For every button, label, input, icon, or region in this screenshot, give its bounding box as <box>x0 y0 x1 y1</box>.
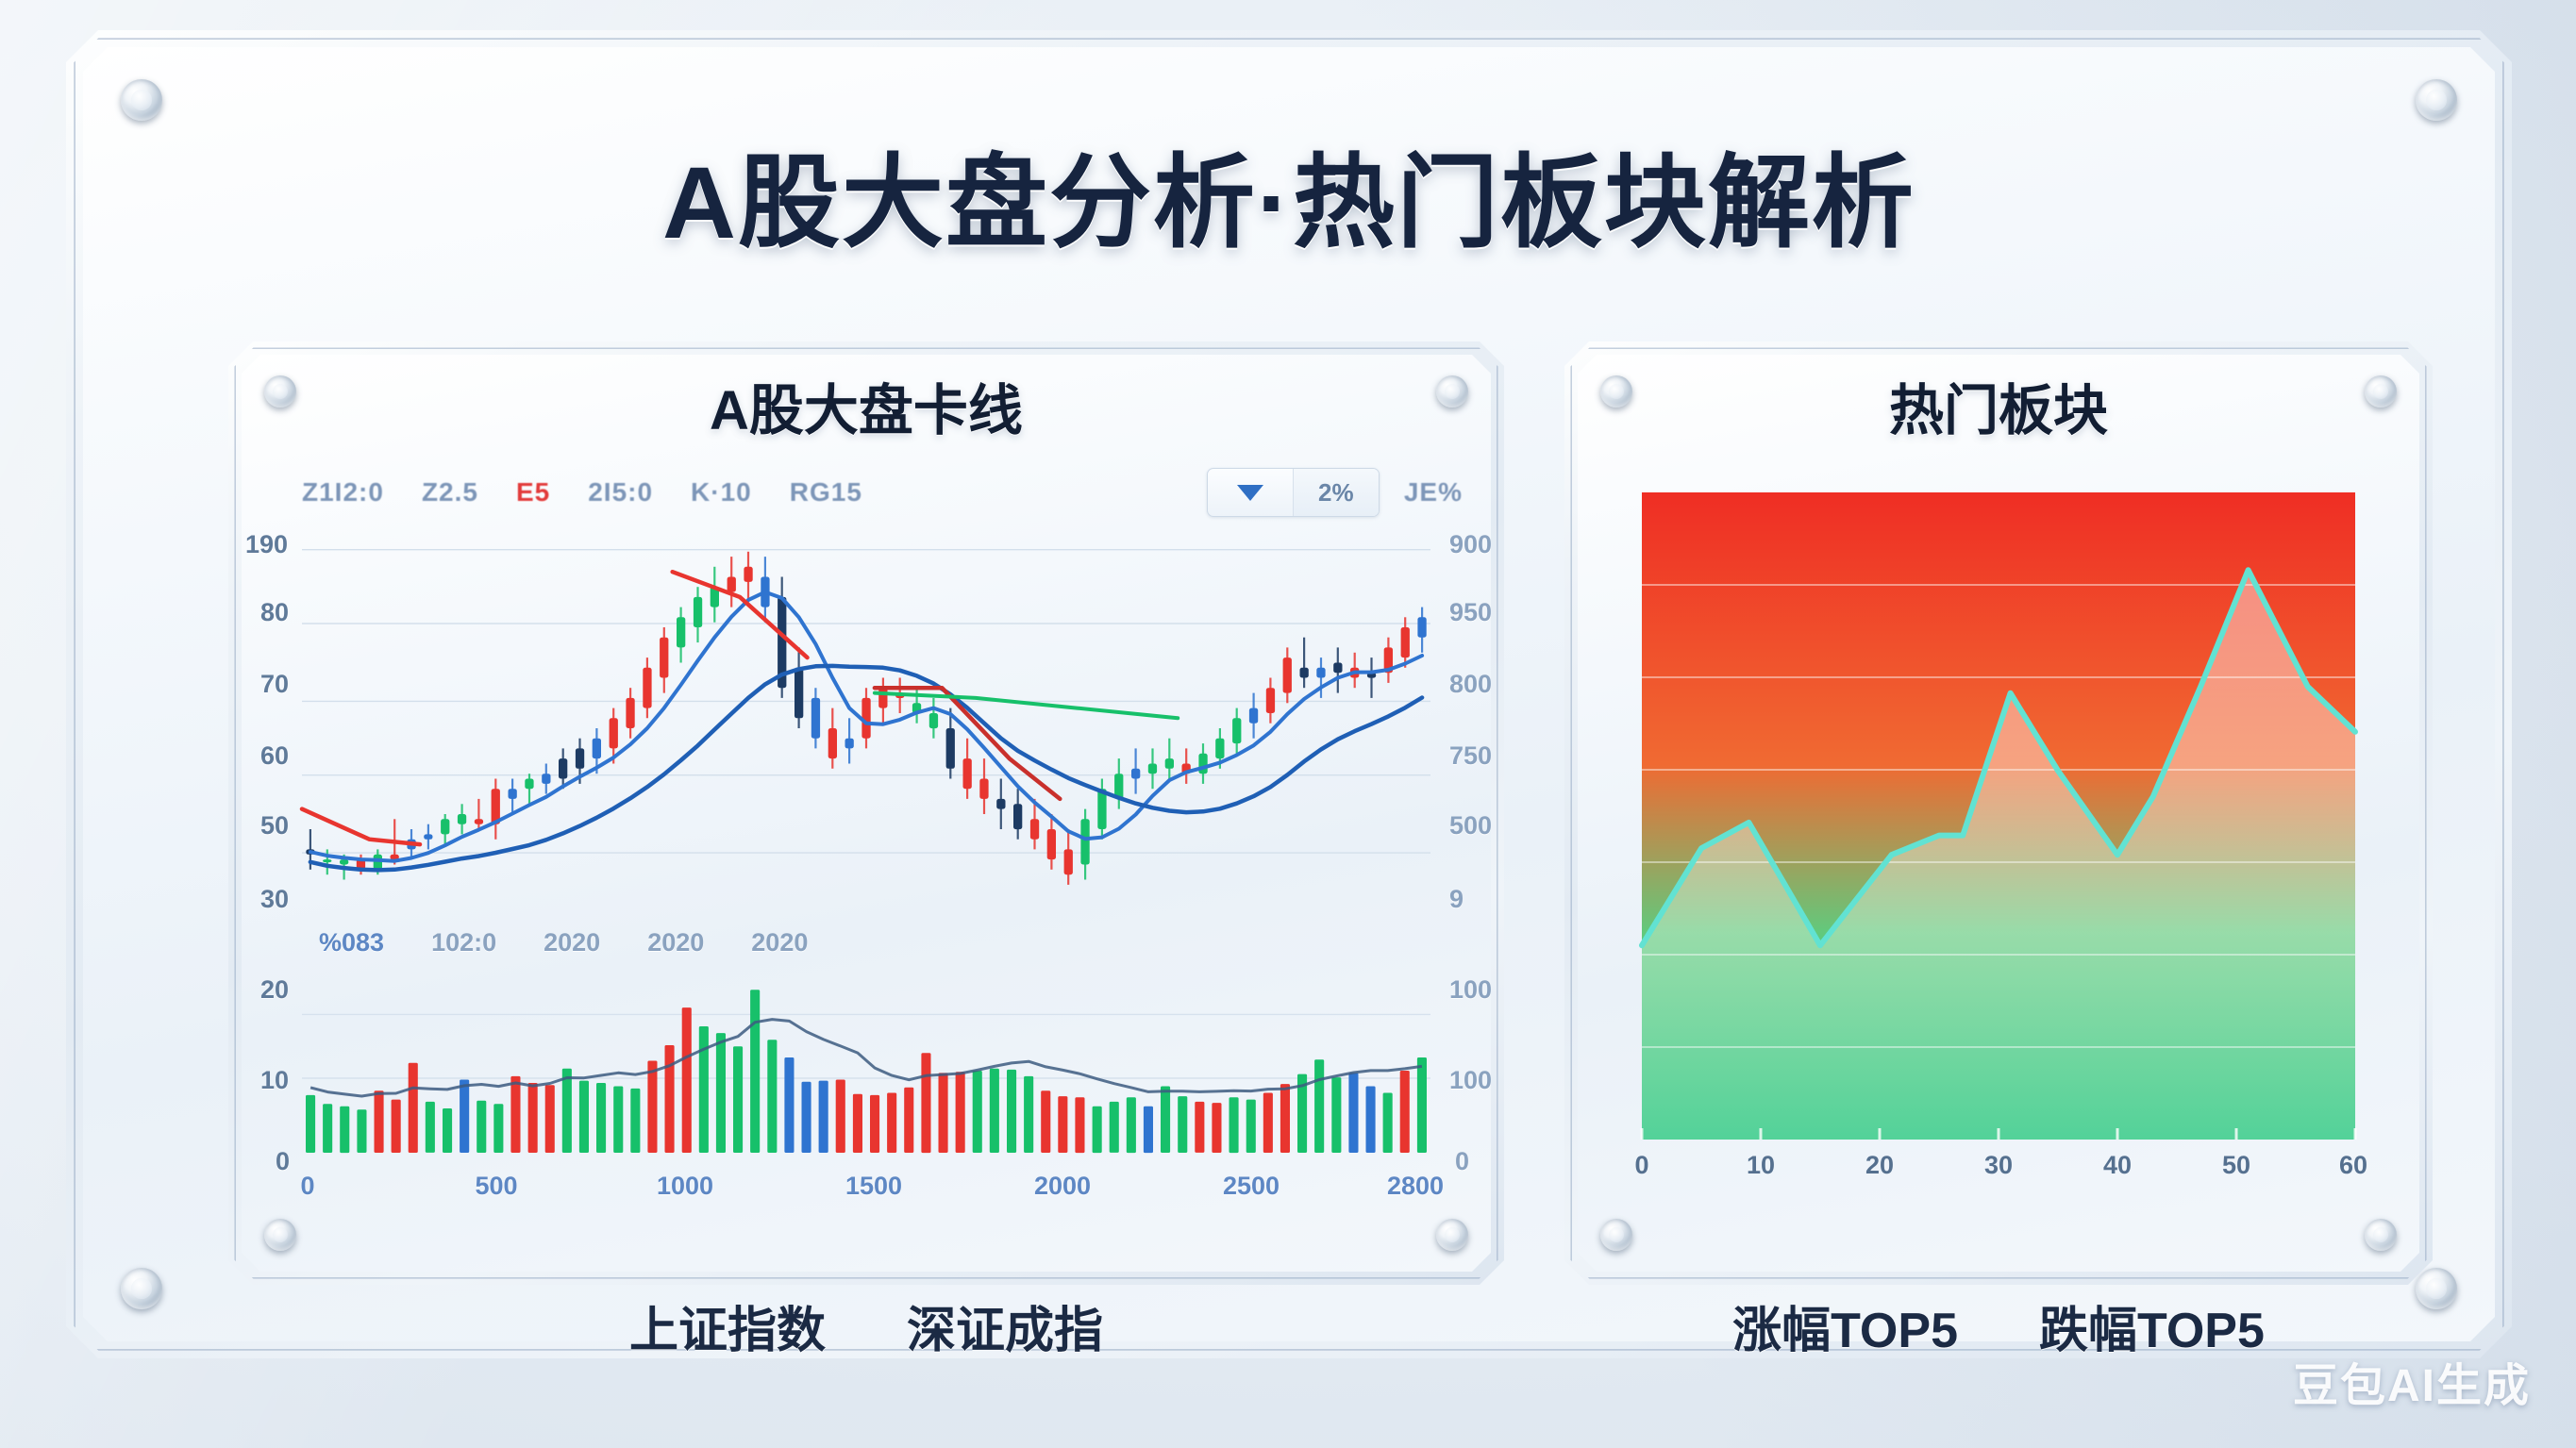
kline-y2-label-7: 100 <box>1449 1066 1492 1095</box>
kline-y-label-5: 30 <box>260 885 289 914</box>
screw-bottom-left <box>121 1268 162 1309</box>
kline-y-label-3: 60 <box>260 741 289 771</box>
kline-y2-label-6: 100 <box>1449 975 1492 1005</box>
kline-y-label-7: 10 <box>260 1066 289 1095</box>
screw-top-right <box>2416 79 2457 121</box>
kline-y-label-0: 190 <box>245 530 288 559</box>
kline-x-label-3: 1500 <box>845 1172 902 1201</box>
kline-x-label-5: 2500 <box>1223 1172 1280 1201</box>
toolbar-tag-2[interactable]: E5 <box>516 477 550 508</box>
kline-y2-label-3: 750 <box>1449 741 1492 771</box>
sector-chart[interactable] <box>1642 492 2355 1140</box>
sector-x-label-2: 20 <box>1865 1151 1894 1180</box>
kline-x-label-2: 1000 <box>657 1172 713 1201</box>
mid-tag-2: 2020 <box>544 928 600 957</box>
kline-y-label-4: 50 <box>260 811 289 841</box>
toolbar-tag-4[interactable]: K·10 <box>691 477 752 508</box>
mid-tag-0: %083 <box>319 928 384 957</box>
sector-x-label-6: 60 <box>2339 1151 2367 1180</box>
toolbar-tag-3[interactable]: 2I5:0 <box>588 477 653 508</box>
legend-losers-top5[interactable]: 跌幅TOP5 <box>2039 1290 2265 1361</box>
legend-gainers-top5[interactable]: 涨幅TOP5 <box>1732 1290 1958 1361</box>
kline-y2-label-2: 800 <box>1449 670 1492 699</box>
kline-toolbar: Z1I2:0 Z2.5 E5 2I5:0 K·10 RG15 2% JE% <box>302 470 1463 515</box>
sector-screw-bottom-right <box>2365 1219 2397 1251</box>
sector-x-label-5: 50 <box>2222 1151 2250 1180</box>
kline-screw-bottom-left <box>264 1219 296 1251</box>
volume-svg <box>302 975 1430 1153</box>
mid-tag-4: 2020 <box>751 928 808 957</box>
kline-screw-bottom-right <box>1436 1219 1468 1251</box>
kline-y-label-2: 70 <box>260 670 289 699</box>
volume-chart[interactable] <box>302 975 1430 1153</box>
legend-shenzhen-index[interactable]: 深证成指 <box>907 1290 1103 1361</box>
toolbar-tag-5[interactable]: RG15 <box>790 477 862 508</box>
kline-svg <box>302 526 1430 915</box>
kline-y2-label-1: 950 <box>1449 598 1492 627</box>
dropdown-button[interactable] <box>1208 469 1293 516</box>
toolbar-tag-0[interactable]: Z1I2:0 <box>302 477 384 508</box>
kline-x-label-4: 2000 <box>1034 1172 1091 1201</box>
kline-y2-label-5: 9 <box>1449 885 1464 914</box>
kline-x-label-1: 500 <box>475 1172 517 1201</box>
kline-chart[interactable] <box>302 526 1430 915</box>
kline-y2-label-0: 900 <box>1449 530 1492 559</box>
kline-x-axis: 0 500 1000 1500 2000 2500 2800 <box>302 1172 1430 1211</box>
percent-button[interactable]: 2% <box>1293 469 1379 516</box>
toolbar-tag-1[interactable]: Z2.5 <box>422 477 478 508</box>
kline-y2-label-8: 0 <box>1455 1147 1469 1176</box>
kline-y-label-1: 80 <box>260 598 289 627</box>
kline-panel-title: A股大盘卡线 <box>228 366 1504 445</box>
chevron-down-icon <box>1237 485 1263 501</box>
sector-panel-title: 热门板块 <box>1564 366 2433 445</box>
toolbar-right-label: JE% <box>1404 477 1463 508</box>
kline-mid-tag-row: %083 102:0 2020 2020 2020 <box>319 928 808 957</box>
sector-panel: 热门板块 0 10 20 30 40 50 60 <box>1564 341 2433 1285</box>
screw-top-left <box>121 79 162 121</box>
sector-x-label-4: 40 <box>2103 1151 2132 1180</box>
sector-svg <box>1642 492 2355 1140</box>
toolbar-right-group: 2% JE% <box>1207 468 1463 517</box>
scale-segmented-control[interactable]: 2% <box>1207 468 1380 517</box>
main-board: A股大盘分析·热门板块解析 A股大盘卡线 Z1I2:0 Z2.5 E5 2I5:… <box>66 30 2512 1358</box>
sector-x-label-0: 0 <box>1634 1151 1648 1180</box>
page-title: A股大盘分析·热门板块解析 <box>66 121 2512 268</box>
legend-shanghai-index[interactable]: 上证指数 <box>629 1290 826 1361</box>
kline-x-label-0: 0 <box>300 1172 314 1201</box>
mid-tag-3: 2020 <box>647 928 704 957</box>
kline-x-label-6: 2800 <box>1387 1172 1444 1201</box>
sector-screw-bottom-left <box>1600 1219 1632 1251</box>
kline-panel: A股大盘卡线 Z1I2:0 Z2.5 E5 2I5:0 K·10 RG15 2%… <box>228 341 1504 1285</box>
sector-x-label-3: 30 <box>1984 1151 2013 1180</box>
mid-tag-1: 102:0 <box>431 928 496 957</box>
sector-x-axis: 0 10 20 30 40 50 60 <box>1642 1151 2355 1189</box>
sector-x-label-1: 10 <box>1747 1151 1775 1180</box>
kline-y-label-8: 0 <box>276 1147 290 1176</box>
watermark: 豆包AI生成 <box>2293 1348 2531 1414</box>
kline-legend: 上证指数 深证成指 <box>228 1290 1504 1361</box>
kline-y-label-6: 20 <box>260 975 289 1005</box>
kline-y2-label-4: 500 <box>1449 811 1492 841</box>
